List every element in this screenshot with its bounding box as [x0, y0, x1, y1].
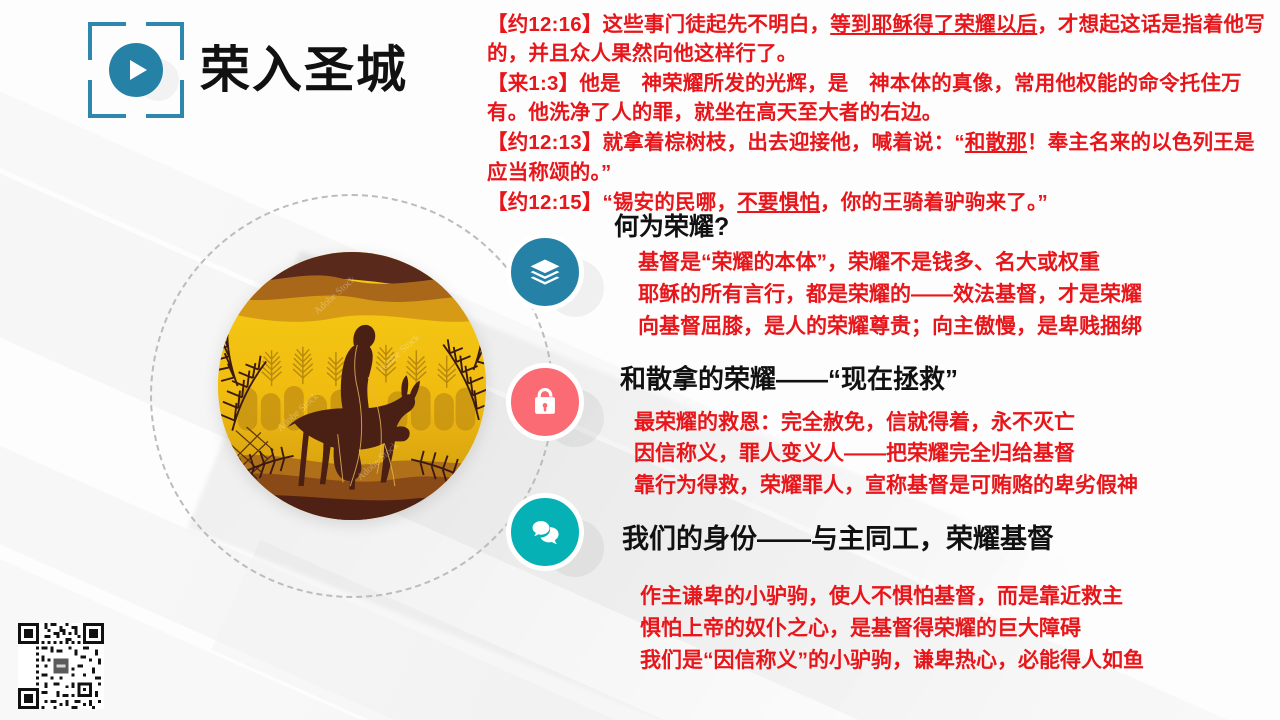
slide-canvas: 荣入圣城 【约12:16】这些事门徒起先不明白，等到耶稣得了荣耀以后，才想起这话… [0, 0, 1280, 720]
section-body: 最荣耀的救恩：完全赦免，信就得着，永不灭亡 因信称义，罪人变义人——把荣耀完全归… [634, 407, 1138, 503]
qr-code[interactable] [18, 623, 104, 709]
scripture-ref: 【约12:16】 [487, 13, 603, 36]
section-line: 因信称义，罪人变义人——把荣耀完全归给基督 [634, 438, 1138, 470]
section-heading: 何为荣耀? [614, 212, 1142, 243]
scripture-text: 他是 神荣耀所发的光辉，是 神本体的真像，常用他权能的命令托住万有。他洗净了人的… [487, 72, 1242, 124]
scripture-block: 【约12:16】这些事门徒起先不明白，等到耶稣得了荣耀以后，才想起这话是指着他写… [487, 10, 1265, 218]
scripture-underline: 和散那 [965, 131, 1027, 154]
scripture-line-john-12-16: 【约12:16】这些事门徒起先不明白，等到耶稣得了荣耀以后，才想起这话是指着他写… [487, 10, 1265, 68]
section-line: 靠行为得救，荣耀罪人，宣称基督是可贿赂的卑劣假神 [634, 470, 1138, 502]
logo-frame [88, 22, 184, 118]
scripture-text: 就拿着棕树枝，出去迎接他，喊着说：“ [603, 131, 965, 154]
section-heading: 和散拿的荣耀——“现在拯救” [620, 363, 1138, 396]
jesus-riding-donkey-palm-sunday: Adobe Stock Adobe Stock Adobe Stock Adob… [218, 252, 486, 520]
play-button-icon[interactable] [109, 43, 163, 97]
illustration-container: Adobe Stock Adobe Stock Adobe Stock Adob… [218, 252, 486, 520]
scripture-text: ，你的王骑着驴驹来了。” [820, 191, 1048, 214]
page-title: 荣入圣城 [200, 45, 408, 95]
section-line: 惧怕上帝的奴仆之心，是基督得荣耀的巨大障碍 [640, 613, 1144, 645]
unlock-icon[interactable] [506, 363, 584, 441]
scripture-ref: 【约12:15】 [487, 191, 603, 214]
section-line: 最荣耀的救恩：完全赦免，信就得着，永不灭亡 [634, 407, 1138, 439]
section-body: 基督是“荣耀的本体”，荣耀不是钱多、名大或权重 耶稣的所有言行，都是荣耀的——效… [638, 247, 1142, 343]
scripture-ref: 【来1:3】 [487, 72, 579, 95]
scripture-underline: 等到耶稣得了荣耀以后 [830, 13, 1037, 36]
section-line: 作主谦卑的小驴驹，使人不惧怕基督，而是靠近救主 [640, 581, 1144, 613]
scripture-line-hebrews-1-3: 【来1:3】他是 神荣耀所发的光辉，是 神本体的真像，常用他权能的命令托住万有。… [487, 69, 1265, 127]
section-hosanna-glory: 和散拿的荣耀——“现在拯救” 最荣耀的救恩：完全赦免，信就得着，永不灭亡 因信称… [620, 363, 1138, 502]
section-our-identity: 我们的身份——与主同工，荣耀基督 作主谦卑的小驴驹，使人不惧怕基督，而是靠近救主… [622, 523, 1144, 676]
section-line: 向基督屈膝，是人的荣耀尊贵；向主傲慢，是卑贱捆绑 [638, 311, 1142, 343]
section-line: 我们是“因信称义”的小驴驹，谦卑热心，必能得人如鱼 [640, 645, 1144, 677]
slide-header: 荣入圣城 [88, 22, 408, 118]
section-body: 作主谦卑的小驴驹，使人不惧怕基督，而是靠近救主 惧怕上帝的奴仆之心，是基督得荣耀… [640, 581, 1144, 677]
play-triangle [130, 60, 147, 80]
scripture-text: 这些事门徒起先不明白， [603, 13, 831, 36]
scripture-line-john-12-13: 【约12:13】就拿着棕树枝，出去迎接他，喊着说：“和散那！奉主名来的以色列王是… [487, 128, 1265, 186]
chat-bubbles-icon[interactable] [506, 493, 584, 571]
scripture-ref: 【约12:13】 [487, 131, 603, 154]
layers-icon[interactable] [506, 233, 584, 311]
section-line: 耶稣的所有言行，都是荣耀的——效法基督，才是荣耀 [638, 279, 1142, 311]
section-what-is-glory: 何为荣耀? 基督是“荣耀的本体”，荣耀不是钱多、名大或权重 耶稣的所有言行，都是… [614, 212, 1142, 343]
section-line: 基督是“荣耀的本体”，荣耀不是钱多、名大或权重 [638, 247, 1142, 279]
section-heading: 我们的身份——与主同工，荣耀基督 [622, 523, 1144, 557]
scripture-underline: 不要惧怕 [737, 191, 820, 214]
scripture-text: “锡安的民哪， [603, 191, 738, 214]
